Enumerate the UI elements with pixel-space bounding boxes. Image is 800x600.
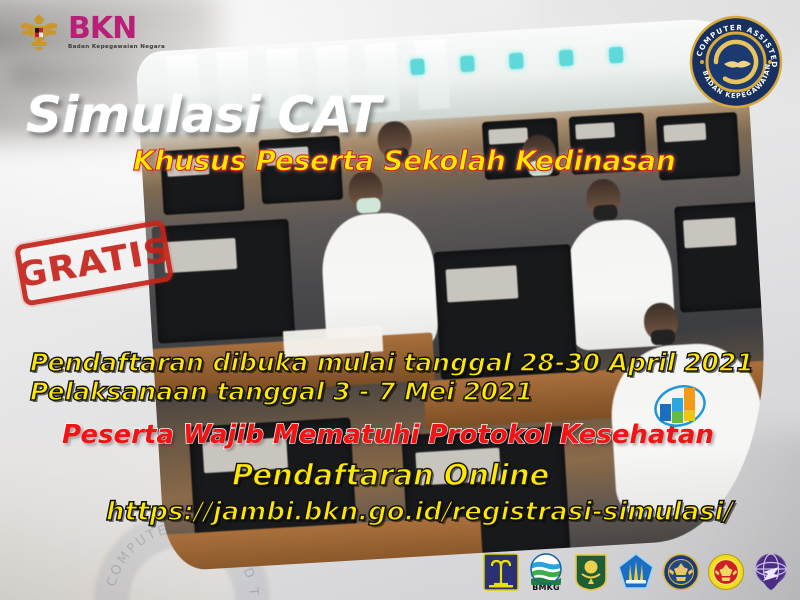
- stis-bps-logo-icon: [662, 552, 700, 592]
- jambi-color-blocks-logo: [652, 378, 708, 430]
- registration-url-link[interactable]: https://jambi.bkn.go.id/registrasi-simul…: [106, 497, 733, 527]
- page-subtitle: Khusus Peserta Sekolah Kedinasan: [133, 144, 676, 177]
- garuda-emblem-icon: [18, 12, 60, 52]
- online-registration-heading: Pendaftaran Online: [232, 458, 549, 492]
- kemenkumham-logo-icon: [482, 552, 520, 592]
- bmkg-logo-icon: [527, 553, 565, 585]
- execution-dates-text: Pelaksanaan tanggal 3 - 7 Mei 2021: [30, 377, 533, 406]
- ipdn-logo-icon: [707, 552, 745, 592]
- bkn-word: BKN: [68, 14, 165, 44]
- page-title: Simulasi CAT: [26, 86, 381, 144]
- cat-seal-icon: COMPUTER ASSISTED TEST BADAN KEPEGAWAIAN…: [688, 14, 784, 110]
- agency-logo-strip: BMKG: [482, 552, 790, 592]
- bkn-subtitle: Badan Kepegawaian Negara: [68, 45, 165, 51]
- background-strip-b: [10, 64, 130, 86]
- sttd-kemenhub-logo-icon: [752, 552, 790, 592]
- kemensos-stks-logo-icon: [572, 552, 610, 592]
- bkn-wordmark: BKN Badan Kepegawaian Negara: [68, 14, 165, 51]
- registration-dates-text: Pendaftaran dibuka mulai tanggal 28-30 A…: [30, 348, 754, 377]
- bkn-logo: BKN Badan Kepegawaian Negara: [18, 12, 165, 52]
- poster-canvas: COMPUTER ASSISTED TEST: [0, 0, 800, 600]
- health-protocol-text: Peserta Wajib Mematuhi Protokol Kesehata…: [62, 420, 714, 450]
- pkn-stan-logo-icon: [617, 552, 655, 592]
- bmkg-logo-block: BMKG: [527, 553, 565, 592]
